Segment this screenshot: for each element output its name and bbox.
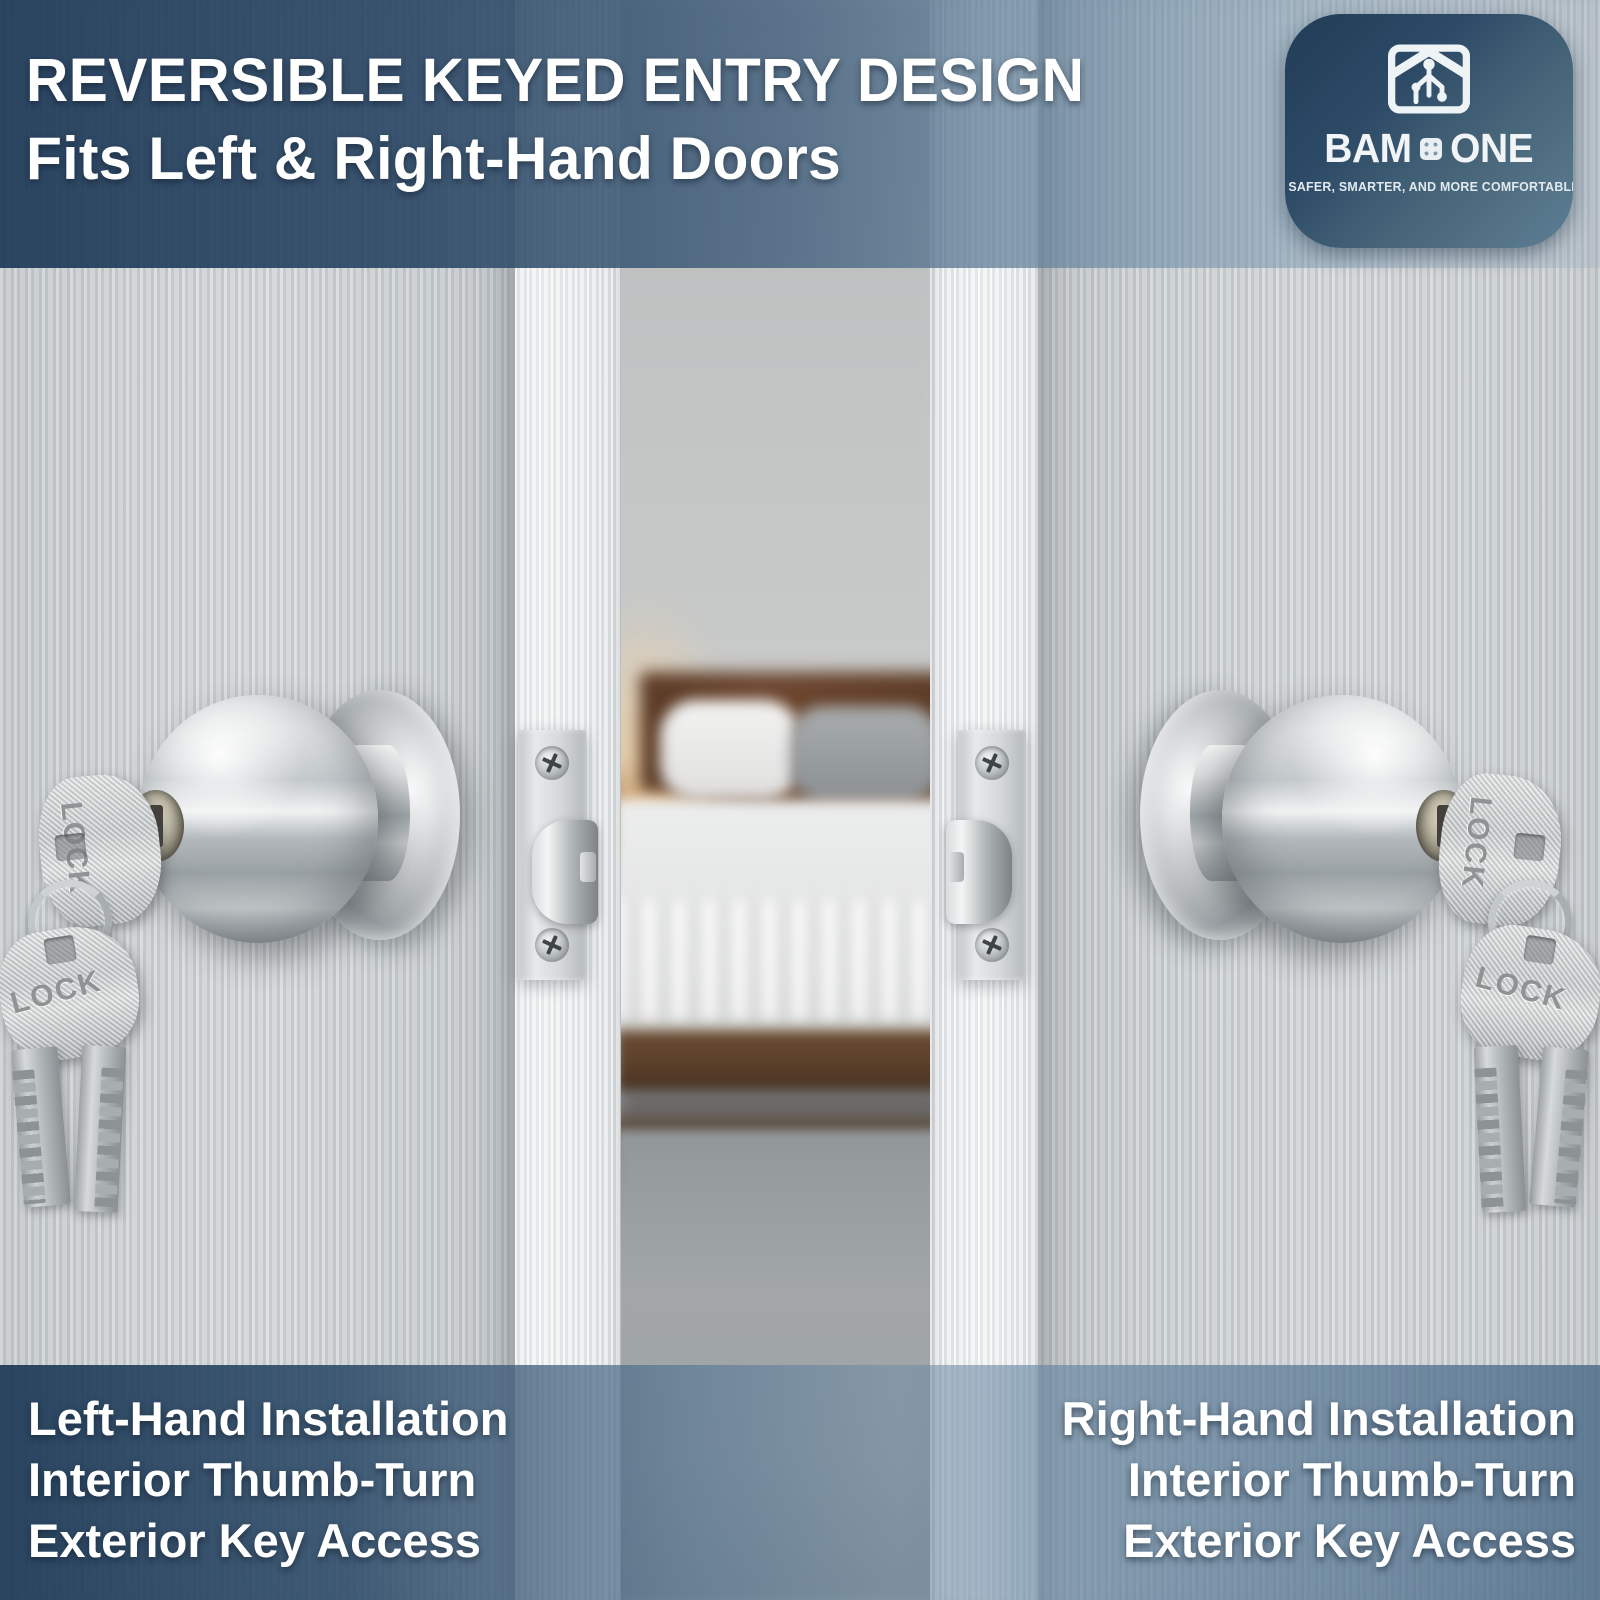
headline-primary: REVERSIBLE KEYED ENTRY DESIGN: [26, 50, 1159, 111]
faceplate-screw-bottom: [535, 928, 569, 962]
right-latch-faceplate: [958, 730, 1026, 980]
left-hanging-key-hole: [43, 935, 77, 965]
brand-text-right: ONE: [1450, 128, 1533, 169]
right-installation-caption: Right-Hand Installation Interior Thumb-T…: [1062, 1388, 1576, 1571]
brand-text-left: BAM: [1325, 128, 1412, 169]
duvet-folds: [615, 900, 945, 1020]
faceplate-screw-bottom: [975, 928, 1009, 962]
right-caption-line-3: Exterior Key Access: [1062, 1510, 1576, 1571]
left-caption-line-1: Left-Hand Installation: [28, 1388, 508, 1449]
brand-tagline: FOR A SAFER, SMARTER, AND MORE COMFORTAB…: [1285, 180, 1573, 194]
faceplate-screw-top: [975, 746, 1009, 780]
latch-guide-pin: [948, 852, 964, 882]
headline-secondary: Fits Left & Right-Hand Doors: [26, 129, 1182, 189]
right-key-ring-hole: [1513, 833, 1546, 862]
right-caption-line-2: Interior Thumb-Turn: [1062, 1449, 1576, 1510]
smart-chip-icon: [1420, 138, 1442, 160]
gray-pillow: [790, 706, 940, 802]
left-installation-caption: Left-Hand Installation Interior Thumb-Tu…: [28, 1388, 508, 1571]
left-caption-line-2: Interior Thumb-Turn: [28, 1449, 508, 1510]
smart-home-house-icon: [1388, 40, 1470, 118]
product-infographic: LOCK LOCK: [0, 0, 1600, 1600]
white-pillow: [660, 700, 800, 800]
latch-guide-pin: [580, 852, 596, 882]
left-caption-line-3: Exterior Key Access: [28, 1510, 508, 1571]
left-key-ring-hole: [54, 833, 87, 862]
right-caption-line-1: Right-Hand Installation: [1062, 1388, 1576, 1449]
bed-frame-base: [615, 1030, 950, 1092]
brand-wordmark: BAM ONE: [1322, 128, 1535, 169]
left-latch-faceplate: [518, 730, 586, 980]
left-hanging-key-engraving: LOCK: [7, 965, 106, 1022]
right-key-engraving: LOCK: [1454, 795, 1498, 891]
right-hanging-key-engraving: LOCK: [1472, 961, 1571, 1018]
faceplate-screw-top: [535, 746, 569, 780]
brand-badge[interactable]: BAM ONE FOR A SAFER, SMARTER, AND MORE C…: [1285, 14, 1573, 248]
headline-block: REVERSIBLE KEYED ENTRY DESIGN Fits Left …: [26, 50, 1206, 189]
right-hanging-key-hole: [1523, 935, 1557, 965]
